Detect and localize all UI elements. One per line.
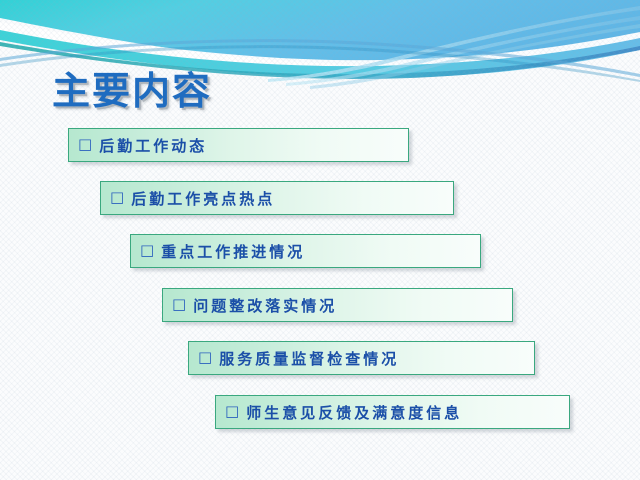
checkbox-square-icon: □ [140,243,154,258]
checkbox-square-icon: □ [78,137,92,152]
list-item-inner: □ 问题整改落实情况 [172,295,337,316]
content-list: □ 后勤工作动态 □ 后勤工作亮点热点 □ 重点工作推进情况 □ 问题整改落实情… [0,0,640,480]
list-item-inner: □ 师生意见反馈及满意度信息 [225,402,462,423]
list-item[interactable]: □ 问题整改落实情况 [162,288,513,322]
list-item[interactable]: □ 重点工作推进情况 [130,234,481,268]
list-item[interactable]: □ 师生意见反馈及满意度信息 [215,395,570,429]
checkbox-square-icon: □ [172,297,186,312]
list-item-inner: □ 服务质量监督检查情况 [198,348,399,369]
list-item-label: 问题整改落实情况 [193,295,337,316]
list-item-label: 后勤工作亮点热点 [131,188,275,209]
checkbox-square-icon: □ [225,404,239,419]
checkbox-square-icon: □ [110,190,124,205]
list-item-inner: □ 后勤工作动态 [78,135,207,156]
list-item-inner: □ 重点工作推进情况 [140,241,305,262]
list-item[interactable]: □ 服务质量监督检查情况 [188,341,535,375]
list-item[interactable]: □ 后勤工作动态 [68,128,409,162]
list-item[interactable]: □ 后勤工作亮点热点 [100,181,454,215]
list-item-label: 服务质量监督检查情况 [219,348,399,369]
slide-canvas: 主要内容 □ 后勤工作动态 □ 后勤工作亮点热点 □ 重点工作推进情况 □ 问题… [0,0,640,480]
list-item-label: 后勤工作动态 [99,135,207,156]
list-item-label: 师生意见反馈及满意度信息 [246,402,462,423]
list-item-inner: □ 后勤工作亮点热点 [110,188,275,209]
checkbox-square-icon: □ [198,350,212,365]
list-item-label: 重点工作推进情况 [161,241,305,262]
